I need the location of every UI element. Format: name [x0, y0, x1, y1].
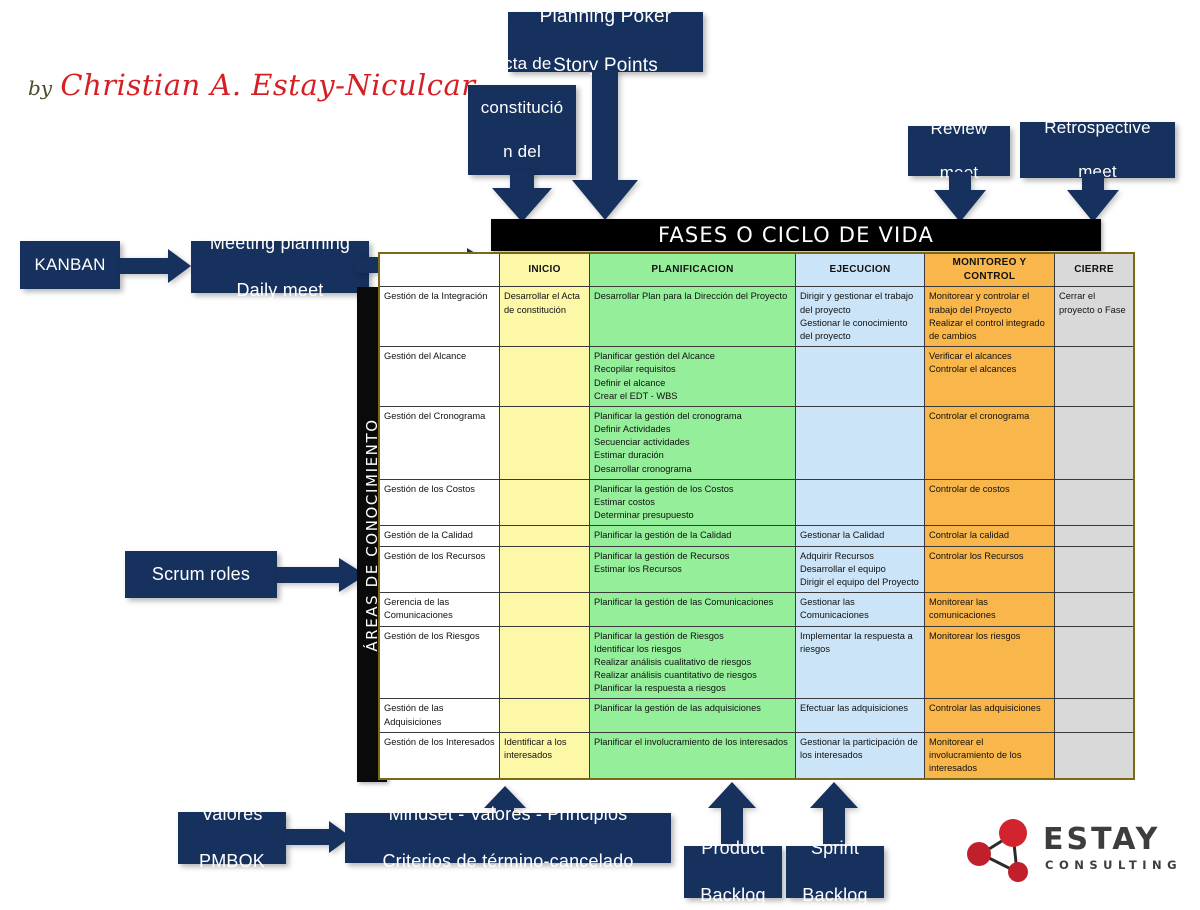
matrix-cell-line: Planificar la gestión de las Comunicacio… [594, 596, 791, 609]
callout-acta-line3: n del [473, 140, 572, 164]
matrix-cell-line: Dirigir el equipo del Proyecto [800, 576, 920, 589]
matrix-row: Gestión de los CostosPlanificar la gesti… [379, 479, 1134, 526]
callout-valores-line1: Valores [191, 802, 273, 827]
logo-wordmark: ESTAY [1043, 822, 1160, 857]
matrix-area-cell: Gestión de la Integración [379, 287, 500, 347]
matrix-cell-line: Verificar el alcances [929, 350, 1050, 363]
matrix-cell-line: Crear el EDT - WBS [594, 390, 791, 403]
matrix-row: Gestión de los RecursosPlanificar la ges… [379, 546, 1134, 593]
matrix-cell-line: Definir Actividades [594, 423, 791, 436]
matrix-row: Gestión de las AdquisicionesPlanificar l… [379, 699, 1134, 732]
matrix-cell-line: Controlar los Recursos [929, 550, 1050, 563]
matrix-area-cell: Gestión del Cronograma [379, 406, 500, 479]
matrix-cell-monitoreo: Controlar las adquisiciones [925, 699, 1055, 732]
callout-review-meet[interactable]: Review meet [908, 126, 1010, 176]
matrix-header-planificacion: PLANIFICACION [590, 253, 796, 287]
matrix-cell-ejecucion [796, 347, 925, 407]
matrix-cell-cierre [1055, 732, 1135, 779]
matrix-cell-monitoreo: Controlar la calidad [925, 526, 1055, 546]
matrix-cell-line: Desarrollar el equipo [800, 563, 920, 576]
matrix-cell-line: Estimar costos [594, 496, 791, 509]
matrix-cell-planificacion: Planificar la gestión de los CostosEstim… [590, 479, 796, 526]
logo-subtitle: CONSULTING [1045, 858, 1182, 872]
matrix-cell-line: Controlar las adquisiciones [929, 702, 1050, 715]
arrow-planning-poker-to-phases [570, 70, 640, 222]
matrix-cell-planificacion: Planificar la gestión de RiesgosIdentifi… [590, 626, 796, 699]
matrix-cell-monitoreo: Monitorear y controlar el trabajo del Pr… [925, 287, 1055, 347]
signature-name: Christian A. Estay-Niculcar [60, 68, 475, 102]
matrix-area-cell: Gerencia de las Comunicaciones [379, 593, 500, 626]
matrix-cell-ejecucion: Gestionar la Calidad [796, 526, 925, 546]
author-signature: by Christian A. Estay-Niculcar [28, 68, 476, 102]
matrix-cell-planificacion: Planificar la gestión de las adquisicion… [590, 699, 796, 732]
matrix-header-ejecucion: EJECUCION [796, 253, 925, 287]
diagram-canvas: by Christian A. Estay-Niculcar Planning … [0, 0, 1200, 898]
phases-banner: FASES O CICLO DE VIDA [491, 219, 1101, 251]
estay-network-icon [955, 816, 1041, 882]
signature-prefix: by [28, 76, 52, 100]
matrix-cell-cierre: Cerrar el proyecto o Fase [1055, 287, 1135, 347]
matrix-row: Gerencia de las ComunicacionesPlanificar… [379, 593, 1134, 626]
matrix-cell-ejecucion: Efectuar las adquisiciones [796, 699, 925, 732]
matrix-cell-line: Gestionar la Calidad [800, 529, 920, 542]
matrix-cell-line: Implementar la respuesta a riesgos [800, 630, 920, 656]
matrix-cell-monitoreo: Controlar de costos [925, 479, 1055, 526]
callout-review-line1: Review [923, 117, 996, 141]
matrix-cell-inicio: Desarrollar el Acta de constitución [500, 287, 590, 347]
matrix-cell-cierre [1055, 526, 1135, 546]
pmbok-matrix: INICIO PLANIFICACION EJECUCION MONITOREO… [378, 252, 1135, 780]
callout-valores-line2: PMBOK [191, 849, 273, 874]
matrix-cell-monitoreo: Controlar el cronograma [925, 406, 1055, 479]
matrix-cell-monitoreo: Verificar el alcancesControlar el alcanc… [925, 347, 1055, 407]
estay-consulting-logo: ESTAY CONSULTING [955, 816, 1190, 888]
matrix-header-monitoreo: MONITOREO Y CONTROL [925, 253, 1055, 287]
callout-retrospective-line1: Retrospective [1036, 116, 1159, 140]
matrix-cell-planificacion: Desarrollar Plan para la Dirección del P… [590, 287, 796, 347]
matrix-row: Gestión de los InteresadosIdentificar a … [379, 732, 1134, 779]
matrix-cell-line: Determinar presupuesto [594, 509, 791, 522]
callout-meeting-planning[interactable]: Meeting planning Daily meet [191, 241, 369, 293]
callout-scrum-roles-label: Scrum roles [144, 562, 258, 587]
matrix-cell-planificacion: Planificar el involucramiento de los int… [590, 732, 796, 779]
callout-product-backlog[interactable]: Product Backlog [684, 846, 782, 898]
callout-sprint-backlog-line2: Backlog [794, 883, 875, 908]
matrix-cell-inicio [500, 699, 590, 732]
matrix-cell-monitoreo: Monitorear las comunicaciones [925, 593, 1055, 626]
matrix-cell-inicio: Identificar a los interesados [500, 732, 590, 779]
matrix-cell-cierre [1055, 593, 1135, 626]
matrix-cell-cierre [1055, 406, 1135, 479]
matrix-row: Gestión de la IntegraciónDesarrollar el … [379, 287, 1134, 347]
matrix-cell-line: Estimar los Recursos [594, 563, 791, 576]
callout-meeting-line1: Meeting planning [202, 231, 358, 256]
matrix-cell-line: Definir el alcance [594, 377, 791, 390]
matrix-cell-line: Monitorear y controlar el trabajo del Pr… [929, 290, 1050, 316]
matrix-cell-line: Adquirir Recursos [800, 550, 920, 563]
callout-planning-poker-line1: Planning Poker [532, 4, 680, 30]
matrix-cell-ejecucion [796, 479, 925, 526]
arrow-retrospective-to-phases [1065, 174, 1121, 224]
matrix-area-cell: Gestión de los Costos [379, 479, 500, 526]
matrix-cell-line: Planificar la gestión de la Calidad [594, 529, 791, 542]
callout-product-backlog-line2: Backlog [692, 883, 773, 908]
matrix-area-cell: Gestión del Alcance [379, 347, 500, 407]
matrix-cell-inicio [500, 626, 590, 699]
matrix-cell-line: Planificar gestión del Alcance [594, 350, 791, 363]
callout-mindset-line1: Mindset - Valores - Principios [374, 802, 641, 827]
matrix-cell-line: Realizar análisis cualitativo de riesgos [594, 656, 791, 669]
matrix-cell-line: Controlar la calidad [929, 529, 1050, 542]
matrix-cell-inicio [500, 546, 590, 593]
matrix-cell-line: Cerrar el proyecto o Fase [1059, 290, 1129, 316]
matrix-row: Gestión de la CalidadPlanificar la gesti… [379, 526, 1134, 546]
matrix-cell-monitoreo: Monitorear los riesgos [925, 626, 1055, 699]
matrix-cell-cierre [1055, 699, 1135, 732]
matrix-cell-cierre [1055, 347, 1135, 407]
matrix-cell-inicio [500, 406, 590, 479]
matrix-header-monitoreo-line1: MONITOREO Y [952, 257, 1026, 268]
callout-mindset[interactable]: Mindset - Valores - Principios Criterios… [345, 813, 671, 863]
arrow-review-to-phases [932, 172, 988, 224]
matrix-cell-line: Planificar la respuesta a riesgos [594, 682, 791, 695]
callout-product-backlog-line1: Product [692, 836, 773, 861]
matrix-cell-line: Estimar duración [594, 449, 791, 462]
matrix-cell-ejecucion [796, 406, 925, 479]
matrix-cell-line: Controlar el cronograma [929, 410, 1050, 423]
matrix-cell-monitoreo: Controlar los Recursos [925, 546, 1055, 593]
matrix-cell-inicio [500, 479, 590, 526]
matrix-cell-inicio [500, 593, 590, 626]
matrix-cell-line: Planificar la gestión de Recursos [594, 550, 791, 563]
matrix-cell-planificacion: Planificar la gestión de la Calidad [590, 526, 796, 546]
matrix-cell-line: Gestionar le conocimiento del proyecto [800, 317, 920, 343]
matrix-cell-line: Dirigir y gestionar el trabajo del proye… [800, 290, 920, 316]
callout-meeting-line2: Daily meet [202, 278, 358, 303]
matrix-cell-line: Recopilar requisitos [594, 363, 791, 376]
matrix-cell-ejecucion: Gestionar la participación de los intere… [796, 732, 925, 779]
matrix-cell-line: Secuenciar actividades [594, 436, 791, 449]
callout-scrum-roles[interactable]: Scrum roles [125, 551, 277, 598]
matrix-cell-cierre [1055, 546, 1135, 593]
matrix-header-monitoreo-line2: CONTROL [964, 271, 1016, 282]
matrix-cell-ejecucion: Gestionar las Comunicaciones [796, 593, 925, 626]
arrow-valores-to-mindset [286, 820, 352, 854]
matrix-cell-line: Monitorear los riesgos [929, 630, 1050, 643]
matrix-row: Gestión del AlcancePlanificar gestión de… [379, 347, 1134, 407]
callout-acta-line2: constitució [473, 96, 572, 120]
matrix-cell-line: Identificar los riesgos [594, 643, 791, 656]
matrix-cell-cierre [1055, 479, 1135, 526]
matrix-cell-line: Controlar de costos [929, 483, 1050, 496]
matrix-cell-cierre [1055, 626, 1135, 699]
matrix-header-inicio: INICIO [500, 253, 590, 287]
matrix-header-blank [379, 253, 500, 287]
matrix-cell-planificacion: Planificar la gestión del cronogramaDefi… [590, 406, 796, 479]
matrix-cell-line: Gestionar la participación de los intere… [800, 736, 920, 762]
matrix-row: Gestión del CronogramaPlanificar la gest… [379, 406, 1134, 479]
matrix-cell-line: Realizar análisis cuantitativo de riesgo… [594, 669, 791, 682]
callout-acta-line1: Acta de [473, 52, 572, 76]
arrow-acta-to-phases [490, 170, 554, 224]
matrix-cell-line: Realizar el control integrado de cambios [929, 317, 1050, 343]
matrix-cell-inicio [500, 526, 590, 546]
matrix-cell-planificacion: Planificar la gestión de las Comunicacio… [590, 593, 796, 626]
callout-acta-constitucion[interactable]: Acta de constitució n del equipo [468, 85, 576, 175]
matrix-cell-line: Planificar la gestión de las adquisicion… [594, 702, 791, 715]
matrix-cell-line: Desarrollar cronograma [594, 463, 791, 476]
matrix-cell-line: Controlar el alcances [929, 363, 1050, 376]
callout-kanban[interactable]: KANBAN [20, 241, 120, 289]
callout-retrospective-meet[interactable]: Retrospective meet [1020, 122, 1175, 178]
matrix-cell-line: Desarrollar el Acta de constitución [504, 290, 585, 316]
matrix-cell-planificacion: Planificar gestión del AlcanceRecopilar … [590, 347, 796, 407]
arrow-kanban-to-meeting [120, 248, 192, 284]
matrix-row: Gestión de los RiesgosPlanificar la gest… [379, 626, 1134, 699]
matrix-cell-line: Planificar la gestión del cronograma [594, 410, 791, 423]
callout-valores-pmbok[interactable]: Valores PMBOK [178, 812, 286, 864]
matrix-cell-line: Monitorear las comunicaciones [929, 596, 1050, 622]
callout-sprint-backlog[interactable]: Sprint Backlog [786, 846, 884, 898]
matrix-cell-line: Planificar la gestión de los Costos [594, 483, 791, 496]
matrix-cell-ejecucion: Implementar la respuesta a riesgos [796, 626, 925, 699]
matrix-cell-line: Identificar a los interesados [504, 736, 585, 762]
matrix-cell-line: Efectuar las adquisiciones [800, 702, 920, 715]
matrix-area-cell: Gestión de la Calidad [379, 526, 500, 546]
matrix-cell-planificacion: Planificar la gestión de RecursosEstimar… [590, 546, 796, 593]
matrix-cell-ejecucion: Dirigir y gestionar el trabajo del proye… [796, 287, 925, 347]
matrix-header-row: INICIO PLANIFICACION EJECUCION MONITOREO… [379, 253, 1134, 287]
matrix-cell-line: Desarrollar Plan para la Dirección del P… [594, 290, 791, 303]
callout-kanban-label: KANBAN [26, 253, 113, 277]
matrix-area-cell: Gestión de los Riesgos [379, 626, 500, 699]
matrix-area-cell: Gestión de los Interesados [379, 732, 500, 779]
matrix-cell-line: Gestionar las Comunicaciones [800, 596, 920, 622]
matrix-cell-line: Planificar la gestión de Riesgos [594, 630, 791, 643]
matrix-cell-monitoreo: Monitorear el involucramiento de los int… [925, 732, 1055, 779]
arrow-scrum-roles-to-matrix [277, 557, 367, 593]
matrix-cell-ejecucion: Adquirir RecursosDesarrollar el equipoDi… [796, 546, 925, 593]
matrix-cell-line: Monitorear el involucramiento de los int… [929, 736, 1050, 776]
matrix-area-cell: Gestión de los Recursos [379, 546, 500, 593]
callout-mindset-line2: Criterios de término-cancelado [374, 849, 641, 874]
matrix-cell-inicio [500, 347, 590, 407]
matrix-area-cell: Gestión de las Adquisiciones [379, 699, 500, 732]
callout-sprint-backlog-line1: Sprint [794, 836, 875, 861]
matrix-cell-line: Planificar el involucramiento de los int… [594, 736, 791, 749]
matrix-header-cierre: CIERRE [1055, 253, 1135, 287]
